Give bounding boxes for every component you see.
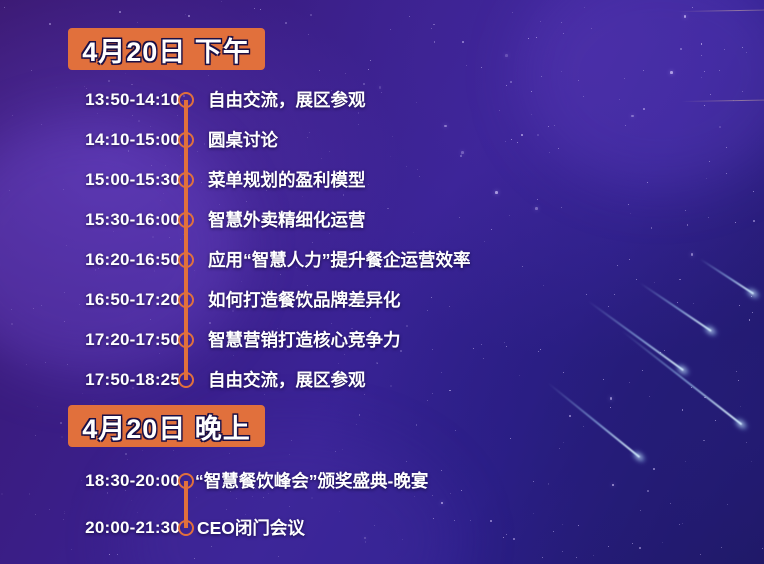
agenda-row-desc: CEO闭门会议 xyxy=(197,515,305,541)
agenda-row[interactable]: 15:00-15:30 菜单规划的盈利模型 xyxy=(60,167,180,193)
agenda-row-time: 17:20-17:50 xyxy=(85,327,180,353)
agenda-row[interactable]: 13:50-14:10 自由交流，展区参观 xyxy=(60,87,180,113)
day-banner-afternoon: 4月20日 下午 xyxy=(68,28,265,70)
agenda-row-desc: 菜单规划的盈利模型 xyxy=(208,167,366,193)
timeline-dot-icon xyxy=(178,372,194,388)
agenda-row[interactable]: 17:20-17:50 智慧营销打造核心竞争力 xyxy=(60,327,180,353)
timeline-dot-icon xyxy=(178,252,194,268)
agenda-row-time: 14:10-15:00 xyxy=(85,127,180,153)
agenda-row-time: 15:00-15:30 xyxy=(85,167,180,193)
agenda-row[interactable]: 15:30-16:00 智慧外卖精细化运营 xyxy=(60,207,180,233)
timeline-dot-icon xyxy=(178,132,194,148)
timeline-dot-icon xyxy=(178,292,194,308)
timeline-dot-icon xyxy=(178,520,194,536)
agenda-row-time: 15:30-16:00 xyxy=(85,207,180,233)
agenda-row[interactable]: 20:00-21:30 CEO闭门会议 xyxy=(60,515,180,541)
agenda-row-time: 16:20-16:50 xyxy=(85,247,180,273)
timeline-dot-icon xyxy=(178,332,194,348)
agenda-row-desc: 智慧营销打造核心竞争力 xyxy=(208,327,401,353)
agenda-row[interactable]: 18:30-20:00 “智慧餐饮峰会”颁奖盛典-晚宴 xyxy=(60,468,180,494)
timeline-dot-icon xyxy=(178,212,194,228)
agenda-row-time: 20:00-21:30 xyxy=(85,515,180,541)
agenda-row-desc: 智慧外卖精细化运营 xyxy=(208,207,366,233)
timeline-dot-icon xyxy=(178,172,194,188)
agenda-row-desc: 圆桌讨论 xyxy=(208,127,278,153)
agenda-row-time: 13:50-14:10 xyxy=(85,87,180,113)
timeline-dot-icon xyxy=(178,92,194,108)
agenda-row-time: 16:50-17:20 xyxy=(85,287,180,313)
agenda-row-time: 18:30-20:00 xyxy=(85,468,180,494)
agenda-row[interactable]: 16:20-16:50 应用“智慧人力”提升餐企运营效率 xyxy=(60,247,180,273)
agenda-row[interactable]: 14:10-15:00 圆桌讨论 xyxy=(60,127,180,153)
agenda-row-desc: “智慧餐饮峰会”颁奖盛典-晚宴 xyxy=(195,468,428,494)
agenda-row[interactable]: 17:50-18:25 自由交流，展区参观 xyxy=(60,367,180,393)
agenda-content: 4月20日 下午 13:50-14:10 自由交流，展区参观 14:10-15:… xyxy=(0,0,764,564)
agenda-poster: 4月20日 下午 13:50-14:10 自由交流，展区参观 14:10-15:… xyxy=(0,0,764,564)
agenda-row-desc: 自由交流，展区参观 xyxy=(208,87,366,113)
agenda-row-time: 17:50-18:25 xyxy=(85,367,180,393)
agenda-row-desc: 应用“智慧人力”提升餐企运营效率 xyxy=(208,247,471,273)
agenda-row-desc: 如何打造餐饮品牌差异化 xyxy=(208,287,401,313)
agenda-row-desc: 自由交流，展区参观 xyxy=(208,367,366,393)
day-banner-evening: 4月20日 晚上 xyxy=(68,405,265,447)
timeline-dot-icon xyxy=(178,473,194,489)
agenda-row[interactable]: 16:50-17:20 如何打造餐饮品牌差异化 xyxy=(60,287,180,313)
